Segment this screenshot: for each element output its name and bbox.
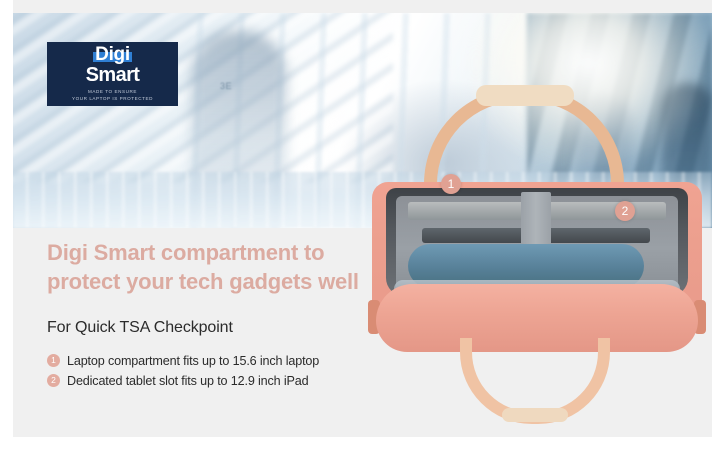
- logo-tagline-line1: MADE TO ENSURE: [88, 89, 137, 96]
- feature-text: Laptop compartment fits up to 15.6 inch …: [67, 354, 319, 368]
- headline-line1: Digi Smart compartment to: [47, 240, 324, 265]
- headline: Digi Smart compartment to protect your t…: [47, 238, 407, 297]
- logo-digi-wrap: Digi: [95, 45, 130, 64]
- gate-sign: 3E: [220, 81, 232, 91]
- feature-text: Dedicated tablet slot fits up to 12.9 in…: [67, 374, 308, 388]
- copy-block: Digi Smart compartment to protect your t…: [47, 238, 407, 394]
- subheading: For Quick TSA Checkpoint: [47, 319, 407, 337]
- bag-handle-grip-top: [476, 85, 574, 106]
- product-feature-banner: 3E Digi Smart MADE TO ENSURE YOUR LAPTOP…: [0, 0, 725, 457]
- callout-marker-1: 1: [441, 174, 461, 194]
- logo-name-line2: Smart: [86, 65, 140, 86]
- feature-list: 1 Laptop compartment fits up to 15.6 inc…: [47, 354, 407, 388]
- brand-logo: Digi Smart MADE TO ENSURE YOUR LAPTOP IS…: [47, 42, 178, 106]
- product-bag: [372, 88, 702, 428]
- bag-handle-grip-bottom: [502, 408, 568, 422]
- feature-number-badge: 1: [47, 354, 60, 367]
- logo-name-line1: Digi: [95, 44, 130, 65]
- list-item: 2 Dedicated tablet slot fits up to 12.9 …: [47, 374, 407, 388]
- feature-number-badge: 2: [47, 374, 60, 387]
- list-item: 1 Laptop compartment fits up to 15.6 inc…: [47, 354, 407, 368]
- headline-line2: protect your tech gadgets well: [47, 269, 359, 294]
- callout-marker-2: 2: [615, 201, 635, 221]
- logo-tagline-line2: YOUR LAPTOP IS PROTECTED: [72, 96, 153, 103]
